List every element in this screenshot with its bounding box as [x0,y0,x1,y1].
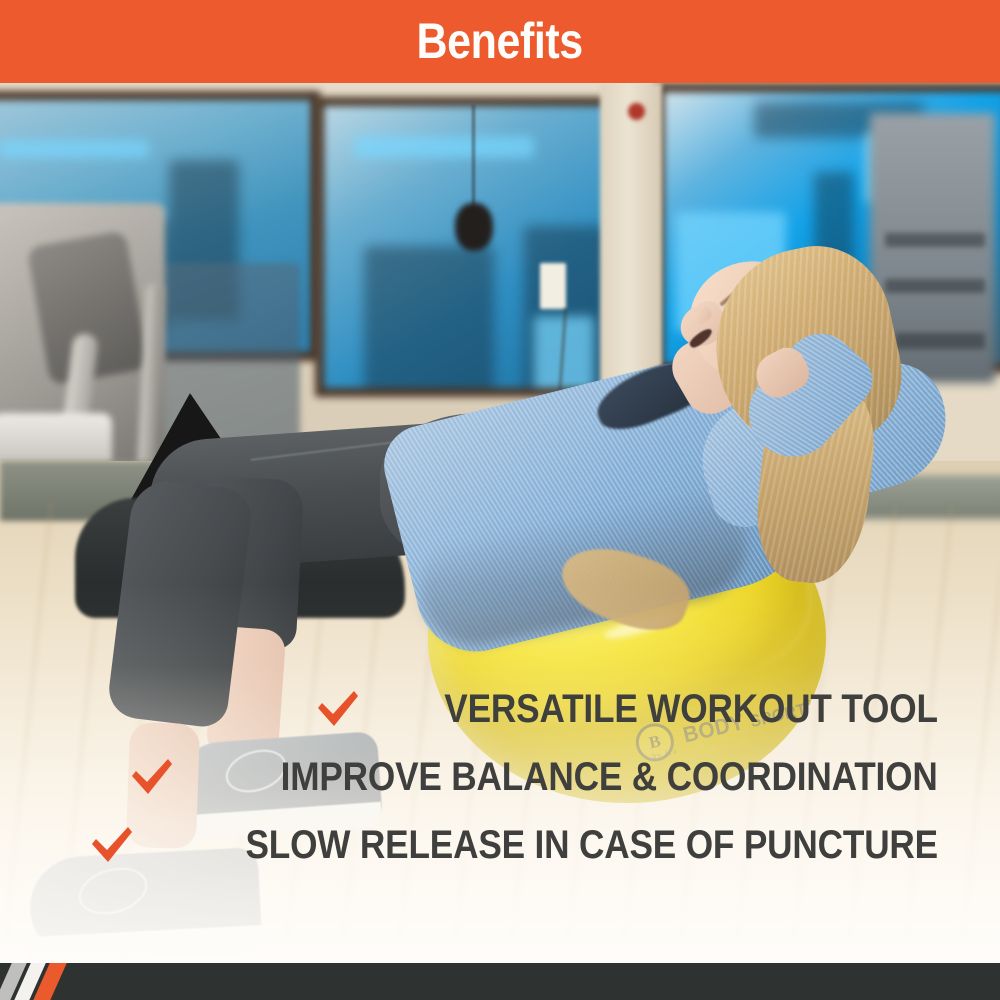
list-item: SLOW RELEASE IN CASE OF PUNCTURE [0,824,1000,866]
fire-alarm-icon [628,103,645,120]
benefits-list: VERSATILE WORKOUT TOOL IMPROVE BALANCE &… [0,688,1000,866]
cabinet-shelf [885,279,985,293]
page-title: Benefits [417,16,583,66]
wall-plate [540,263,566,309]
cabinet-shelf [895,333,985,349]
footer-bar [0,963,1000,1000]
cable-wire [472,105,475,210]
check-icon [315,688,361,730]
benefit-label: IMPROVE BALANCE & COORDINATION [281,756,938,798]
benefits-poster: Benefits [0,0,1000,1000]
hanging-weight [455,203,493,251]
header-banner: Benefits [0,0,1000,83]
list-item: VERSATILE WORKOUT TOOL [0,688,1000,730]
benefit-label: VERSATILE WORKOUT TOOL [445,688,938,730]
cabinet-shelf [885,233,985,247]
check-icon [129,756,175,798]
list-item: IMPROVE BALANCE & COORDINATION [0,756,1000,798]
check-icon [89,824,135,866]
benefit-label: SLOW RELEASE IN CASE OF PUNCTURE [245,824,938,866]
